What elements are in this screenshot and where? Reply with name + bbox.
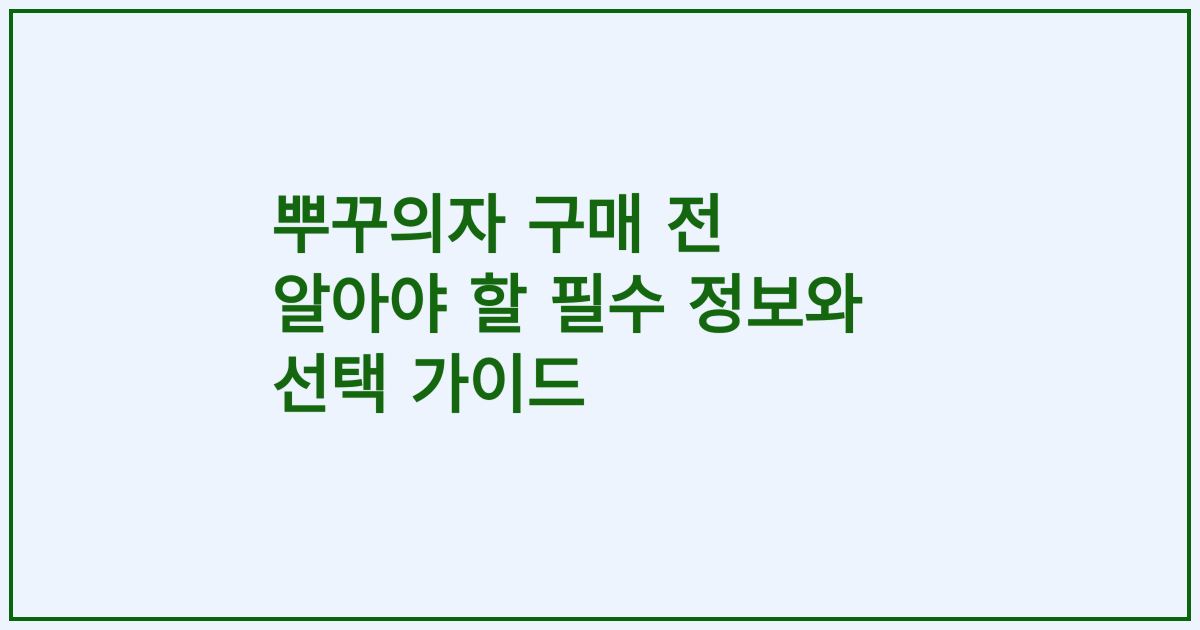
- headline-line-2: 알아야 할 필수 정보와: [272, 266, 972, 346]
- headline-line-1: 뿌꾸의자 구매 전: [272, 186, 972, 266]
- headline-block: 뿌꾸의자 구매 전 알아야 할 필수 정보와 선택 가이드: [272, 186, 972, 426]
- headline-line-3: 선택 가이드: [272, 346, 972, 426]
- title-card: 뿌꾸의자 구매 전 알아야 할 필수 정보와 선택 가이드: [0, 0, 1200, 630]
